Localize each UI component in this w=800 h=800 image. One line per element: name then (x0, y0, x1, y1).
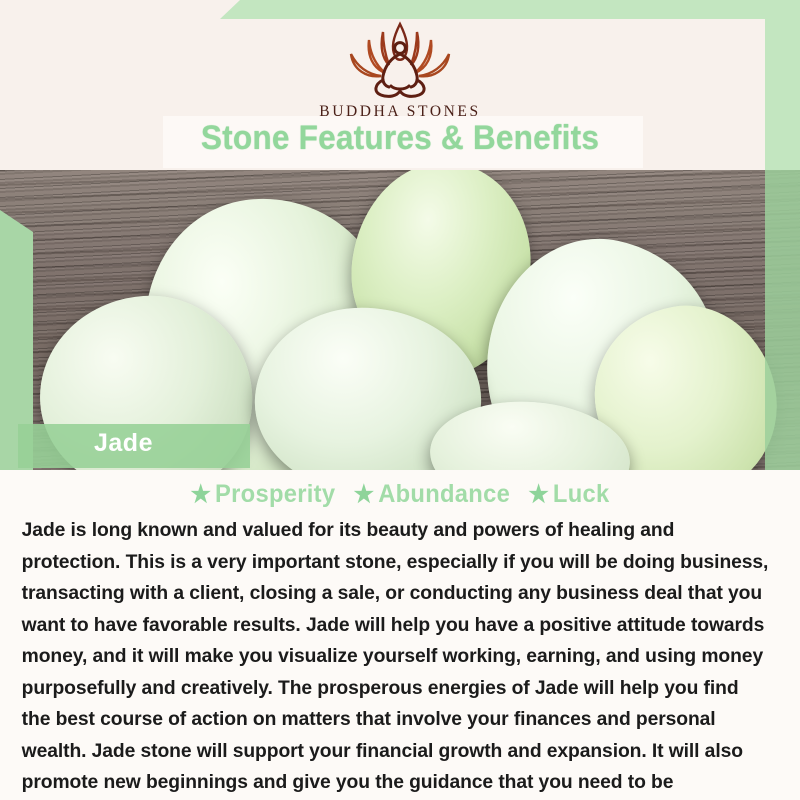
benefit-label: Prosperity (215, 480, 335, 508)
brand-logo: BUDDHA STONES (0, 18, 800, 121)
content-panel: ★Prosperity ★Abundance ★Luck Jade is lon… (0, 470, 800, 800)
description-text: Jade is long known and valued for its be… (0, 509, 788, 800)
benefit-label: Abundance (378, 480, 510, 508)
stone-name-label: Jade (94, 429, 153, 458)
benefit-item: ★Prosperity (190, 480, 335, 508)
benefit-label: Luck (553, 480, 610, 508)
benefits-row: ★Prosperity ★Abundance ★Luck (20, 470, 780, 509)
star-icon: ★ (528, 481, 549, 508)
benefit-item: ★Luck (528, 480, 609, 508)
page-title: Stone Features & Benefits (28, 119, 772, 158)
poster-root: BUDDHA STONES Stone Features & Benefits … (0, 0, 800, 800)
lotus-meditation-icon (325, 18, 475, 100)
star-icon: ★ (190, 481, 211, 508)
decorative-band-right-lower (765, 170, 800, 482)
star-icon: ★ (354, 481, 375, 508)
benefit-item: ★Abundance (354, 480, 510, 508)
